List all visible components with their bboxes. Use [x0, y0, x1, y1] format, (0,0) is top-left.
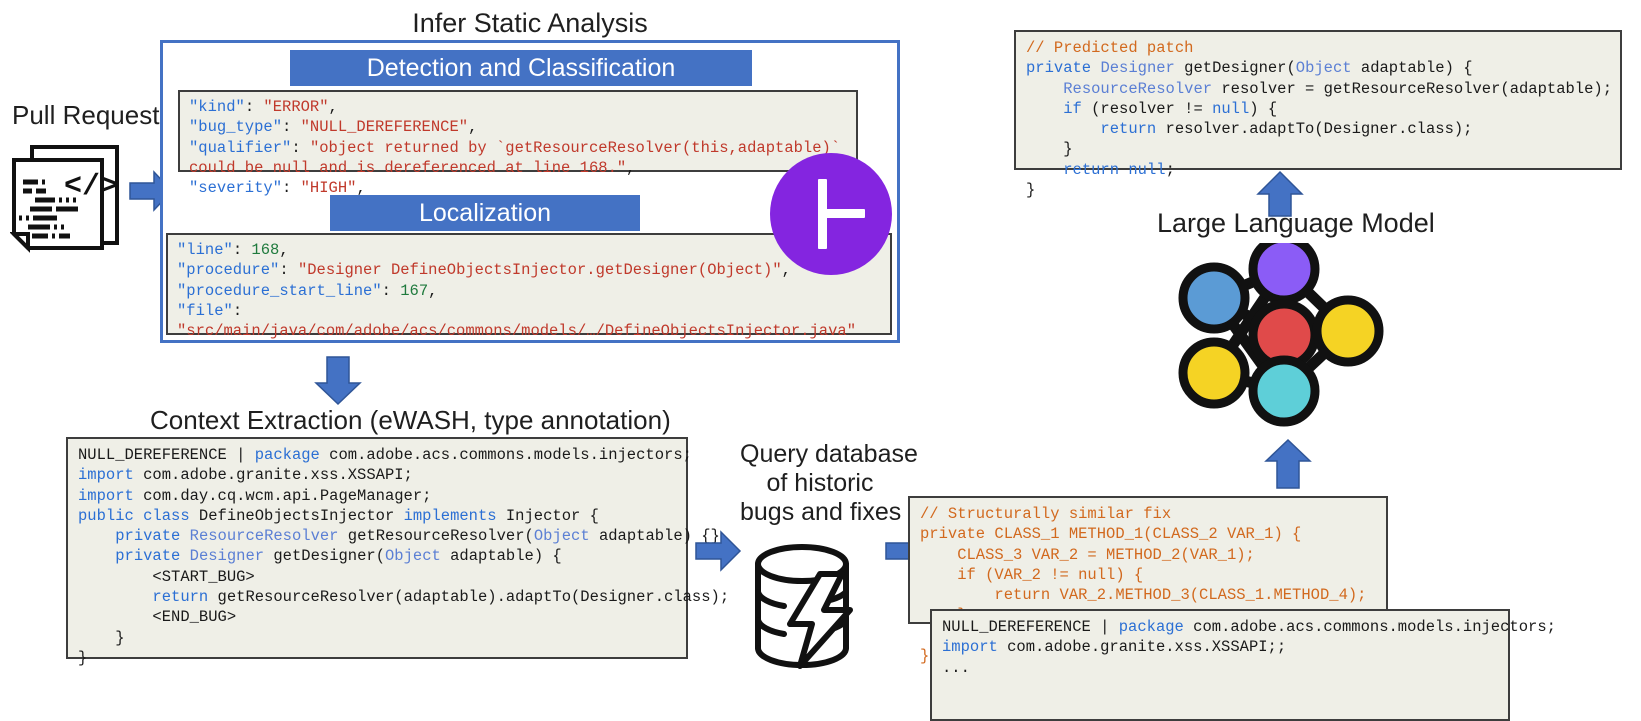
- context-code-line: }: [78, 648, 676, 668]
- patch-code-line: return resolver.adaptTo(Designer.class);: [1026, 119, 1610, 139]
- localization-json-line: "procedure_start_line": 167,: [177, 281, 881, 301]
- detection-json-line: "kind": "ERROR",: [189, 97, 847, 117]
- localization-json-line: "src/main/java/com/adobe/acs/commons/mod…: [177, 321, 881, 341]
- arrow-context-to-llm: [1262, 437, 1314, 491]
- similar-fix-code-line: if (VAR_2 != null) {: [920, 565, 1376, 585]
- query-database-label-group: Query database of historic bugs and fixe…: [740, 440, 900, 527]
- patch-code-line: private Designer getDesigner(Object adap…: [1026, 58, 1610, 78]
- context-code-line: import com.adobe.granite.xss.XSSAPI;: [78, 465, 676, 485]
- infer-turnstile-logo: [770, 153, 892, 275]
- neural-network-icon: [1176, 243, 1384, 444]
- logo-horizontal-bar: [826, 209, 865, 218]
- database-lightning-icon: [750, 538, 875, 678]
- patch-code-line: return null;: [1026, 160, 1610, 180]
- pull-request-label: Pull Request: [12, 100, 159, 131]
- context-code-line: public class DefineObjectsInjector imple…: [78, 506, 676, 526]
- detection-json-line: "qualifier": "object returned by `getRes…: [189, 138, 847, 158]
- similar-context-card: NULL_DEREFERENCE | package com.adobe.acs…: [930, 609, 1510, 721]
- code-document-icon: </>: [10, 142, 132, 254]
- structurally-similar-fix-card: // Structurally similar fixprivate CLASS…: [908, 496, 1388, 624]
- detection-json-line: "bug_type": "NULL_DEREFERENCE",: [189, 117, 847, 137]
- query-label-line1: Query database: [740, 440, 900, 469]
- context-code-line: NULL_DEREFERENCE | package com.adobe.acs…: [78, 445, 676, 465]
- localization-json-line: "line": 168,: [177, 240, 881, 260]
- localization-json-line: "file":: [177, 301, 881, 321]
- context-code-line: <START_BUG>: [78, 567, 676, 587]
- arrow-context-to-db: [694, 528, 742, 574]
- infer-title: Infer Static Analysis: [160, 8, 900, 39]
- context-code-line: private ResourceResolver getResourceReso…: [78, 526, 676, 546]
- similar-fix-code-line: return VAR_2.METHOD_3(CLASS_1.METHOD_4);: [920, 585, 1376, 605]
- similar-fix-code-line: // Structurally similar fix: [920, 504, 1376, 524]
- patch-code-line: }: [1026, 139, 1610, 159]
- context-code-line: private Designer getDesigner(Object adap…: [78, 546, 676, 566]
- detection-json-card: "kind": "ERROR","bug_type": "NULL_DEREFE…: [178, 90, 858, 172]
- patch-code-line: // Predicted patch: [1026, 38, 1610, 58]
- query-label-line3: bugs and fixes: [740, 498, 900, 527]
- patch-code-line: }: [1026, 180, 1610, 200]
- patch-code-line: ResourceResolver resolver = getResourceR…: [1026, 79, 1610, 99]
- context-code-line: <END_BUG>: [78, 607, 676, 627]
- patch-code-line: if (resolver != null) {: [1026, 99, 1610, 119]
- svg-text:</>: </>: [64, 170, 118, 204]
- predicted-patch-card: // Predicted patchprivate Designer getDe…: [1014, 30, 1622, 170]
- similar-fix-code-line: private CLASS_1 METHOD_1(CLASS_2 VAR_1) …: [920, 524, 1376, 544]
- localization-header: Localization: [330, 195, 640, 231]
- arrow-infer-to-context: [312, 355, 364, 407]
- similar-context-code-line: NULL_DEREFERENCE | package com.adobe.acs…: [942, 617, 1498, 637]
- similar-fix-code-line: CLASS_3 VAR_2 = METHOD_2(VAR_1);: [920, 545, 1376, 565]
- query-label-line2: of historic: [740, 469, 900, 498]
- context-code-line: return getResourceResolver(adaptable).ad…: [78, 587, 676, 607]
- context-code-line: }: [78, 628, 676, 648]
- localization-json-line: "procedure": "Designer DefineObjectsInje…: [177, 260, 881, 280]
- context-code-line: import com.day.cq.wcm.api.PageManager;: [78, 486, 676, 506]
- context-extraction-title: Context Extraction (eWASH, type annotati…: [150, 405, 671, 436]
- similar-context-code-line: ...: [942, 658, 1498, 678]
- context-extraction-code-card: NULL_DEREFERENCE | package com.adobe.acs…: [66, 437, 688, 659]
- detection-json-line: could be null and is dereferenced at lin…: [189, 158, 847, 178]
- detection-and-classification-header: Detection and Classification: [290, 50, 752, 86]
- similar-context-code-line: import com.adobe.granite.xss.XSSAPI;;: [942, 637, 1498, 657]
